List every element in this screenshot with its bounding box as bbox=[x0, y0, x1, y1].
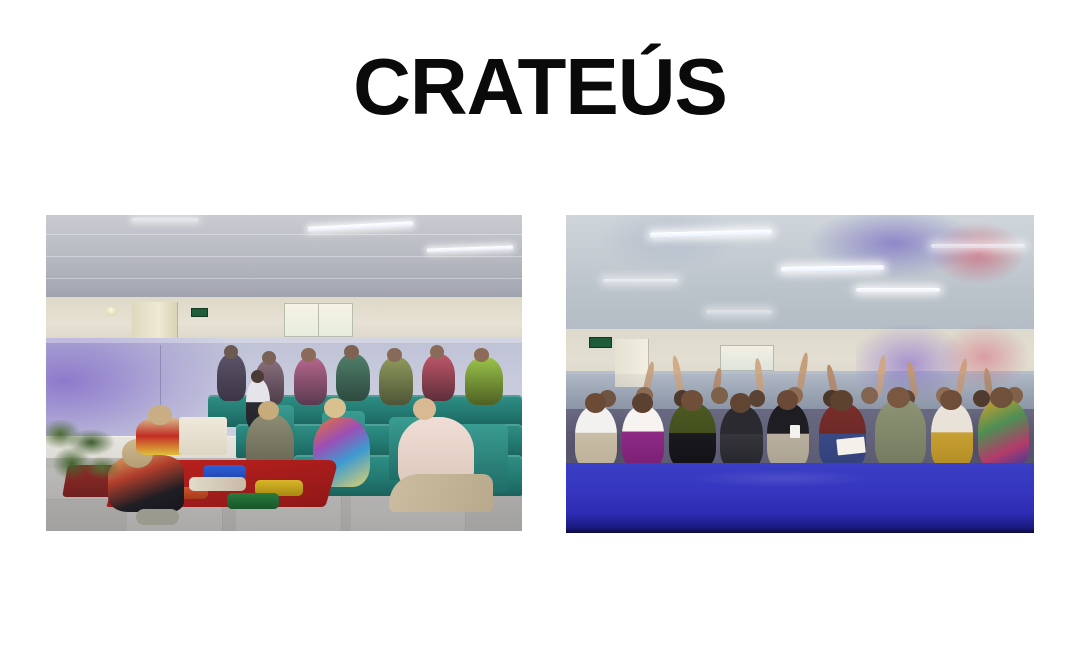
standing-speaker-head bbox=[251, 370, 264, 383]
page-title: CRATEÚS bbox=[0, 47, 1080, 127]
crowd-head bbox=[861, 387, 878, 404]
id-badge bbox=[790, 425, 800, 438]
audience-head bbox=[344, 345, 359, 360]
window bbox=[720, 345, 773, 371]
stage-skirt-highlight bbox=[660, 469, 903, 488]
ceiling-seam bbox=[46, 234, 522, 235]
audience-head bbox=[224, 345, 238, 359]
potted-plant bbox=[46, 420, 122, 490]
open-book bbox=[189, 477, 246, 491]
crowd-member-with-badge bbox=[767, 403, 809, 470]
auditorium-door bbox=[132, 302, 178, 343]
crowd-head bbox=[940, 390, 962, 410]
crowd-head bbox=[681, 390, 703, 411]
audience-member bbox=[217, 354, 246, 401]
audience-head bbox=[387, 348, 402, 363]
wall-trim bbox=[46, 338, 522, 343]
crowd-member bbox=[575, 406, 617, 470]
audience-member bbox=[422, 354, 455, 401]
crowd-head bbox=[887, 387, 910, 409]
audience-legs bbox=[389, 474, 494, 512]
exit-sign-icon bbox=[589, 337, 612, 347]
ceiling-light-fixture bbox=[706, 310, 772, 313]
audience-member bbox=[336, 354, 369, 401]
audience-member bbox=[294, 357, 327, 404]
crowd-head bbox=[711, 387, 728, 404]
photo-right bbox=[566, 215, 1034, 533]
ceiling-seam bbox=[46, 278, 522, 279]
crowd-member bbox=[931, 403, 973, 470]
crowd-member bbox=[720, 406, 762, 470]
crowd-head bbox=[830, 390, 852, 411]
crowd-member bbox=[819, 403, 866, 470]
crowd-member bbox=[622, 406, 664, 470]
audience-member bbox=[465, 357, 503, 404]
crowd-head bbox=[990, 387, 1013, 409]
ceiling-light-fixture bbox=[931, 244, 1025, 248]
audience-member bbox=[379, 357, 412, 404]
held-paper bbox=[837, 436, 867, 455]
audience-head bbox=[301, 348, 316, 363]
crowd-member bbox=[978, 399, 1029, 469]
ceiling-light-fixture bbox=[132, 218, 199, 222]
left-photo-ceiling bbox=[46, 215, 522, 307]
seated-attendee-head bbox=[148, 405, 172, 426]
cushion bbox=[227, 493, 279, 509]
ceiling-light-fixture bbox=[603, 279, 678, 283]
seated-storyteller-shoes bbox=[136, 509, 179, 525]
window bbox=[284, 303, 353, 337]
picture-board bbox=[179, 417, 227, 455]
crowd-member bbox=[875, 399, 926, 469]
exit-sign-icon bbox=[191, 308, 208, 316]
ceiling-light-fixture bbox=[856, 288, 940, 292]
photo-left bbox=[46, 215, 522, 531]
ceiling-seam bbox=[46, 256, 522, 257]
crowd-member bbox=[669, 403, 716, 470]
